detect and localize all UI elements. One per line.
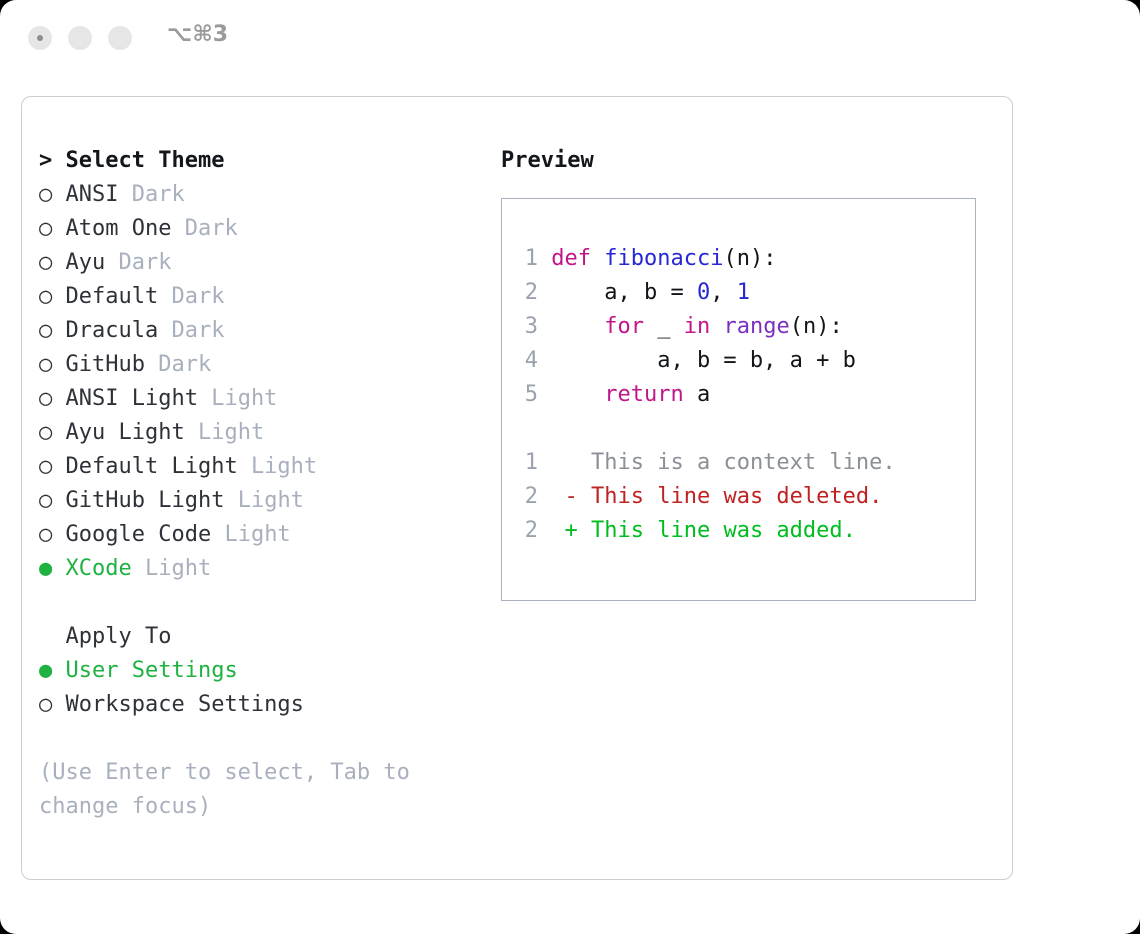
radio-unselected-icon: ○: [39, 488, 52, 513]
code-token: for: [604, 314, 644, 339]
diff-sign: [565, 450, 578, 475]
code-token: [710, 314, 723, 339]
radio-unselected-icon: ○: [39, 250, 52, 275]
line-number: 3: [516, 310, 538, 344]
traffic-light-minimize-icon[interactable]: [68, 26, 92, 50]
apply-to-option[interactable]: ● User Settings: [39, 654, 479, 688]
line-number: 2: [516, 480, 538, 514]
theme-name: Dracula: [66, 318, 159, 343]
code-line: 2 a, b = 0, 1: [516, 276, 969, 310]
code-token: in: [684, 314, 711, 339]
radio-unselected-icon: ○: [39, 454, 52, 479]
radio-unselected-icon: ○: [39, 318, 52, 343]
diff-text: This line was added.: [591, 518, 856, 543]
code-line: 5 return a: [516, 378, 969, 412]
diff-sign: -: [565, 484, 578, 509]
code-token: 0: [697, 280, 710, 305]
app-window: ⌥⌘3 > Select Theme ○ ANSI Dark○ Atom One…: [0, 0, 1140, 934]
code-line: 3 for _ in range(n):: [516, 310, 969, 344]
radio-unselected-icon: ○: [39, 352, 52, 377]
theme-name: Default Light: [66, 454, 238, 479]
prompt-caret-icon: >: [39, 148, 52, 173]
window-titlebar: ⌥⌘3: [0, 0, 1140, 78]
diff-text: This line was deleted.: [591, 484, 882, 509]
radio-selected-icon: ●: [39, 556, 52, 581]
theme-kind-label: Light: [198, 420, 264, 445]
code-token: (n):: [723, 246, 776, 271]
line-number: 2: [516, 276, 538, 310]
radio-unselected-icon: ○: [39, 182, 52, 207]
apply-to-option-label: Workspace Settings: [66, 692, 304, 717]
theme-kind-label: Dark: [119, 250, 172, 275]
apply-to-option[interactable]: ○ Workspace Settings: [39, 688, 479, 722]
code-token: a: [684, 382, 711, 407]
theme-kind-label: Dark: [171, 318, 224, 343]
diff-sign: +: [565, 518, 578, 543]
theme-list-item[interactable]: ○ Ayu Dark: [39, 246, 479, 280]
radio-unselected-icon: ○: [39, 386, 52, 411]
theme-list-item[interactable]: ○ ANSI Dark: [39, 178, 479, 212]
diff-text: This is a context line.: [591, 450, 896, 475]
apply-to-option-label: User Settings: [66, 658, 238, 683]
diff-sample: 1 This is a context line.2 - This line w…: [516, 446, 969, 548]
theme-list-item[interactable]: ○ ANSI Light Light: [39, 382, 479, 416]
theme-list-item[interactable]: ○ GitHub Light Light: [39, 484, 479, 518]
code-token: (n):: [790, 314, 843, 339]
code-line: 4 a, b = b, a + b: [516, 344, 969, 378]
theme-list-item[interactable]: ○ Default Dark: [39, 280, 479, 314]
theme-list-item[interactable]: ○ Default Light Light: [39, 450, 479, 484]
preview-column: Preview 1 def fibonacci(n):2 a, b = 0, 1…: [501, 144, 991, 601]
code-token: ,: [710, 280, 737, 305]
radio-selected-icon: ●: [39, 658, 52, 683]
radio-unselected-icon: ○: [39, 216, 52, 241]
line-number: 4: [516, 344, 538, 378]
code-token: 1: [737, 280, 750, 305]
code-sample: 1 def fibonacci(n):2 a, b = 0, 13 for _ …: [516, 242, 969, 412]
code-token: a, b = b, a + b: [551, 348, 856, 373]
apply-to-heading-label: Apply To: [66, 624, 172, 649]
theme-kind-label: Dark: [132, 182, 185, 207]
theme-name: Default: [66, 284, 159, 309]
theme-list-item[interactable]: ○ Google Code Light: [39, 518, 479, 552]
keyboard-hint-text: (Use Enter to select, Tab to change focu…: [39, 756, 449, 824]
radio-unselected-icon: ○: [39, 692, 52, 717]
theme-list-item[interactable]: ● XCode Light: [39, 552, 479, 586]
theme-kind-label: Light: [224, 522, 290, 547]
main-panel: > Select Theme ○ ANSI Dark○ Atom One Dar…: [21, 96, 1013, 880]
radio-unselected-icon: ○: [39, 522, 52, 547]
theme-name: GitHub: [66, 352, 145, 377]
theme-list-item[interactable]: ○ GitHub Dark: [39, 348, 479, 382]
diff-line: 2 - This line was deleted.: [516, 480, 969, 514]
line-number: 5: [516, 378, 538, 412]
theme-kind-label: Dark: [171, 284, 224, 309]
theme-name: Atom One: [66, 216, 172, 241]
theme-name: ANSI: [66, 182, 119, 207]
line-number: 1: [516, 446, 538, 480]
theme-name: Ayu: [66, 250, 106, 275]
code-token: [551, 382, 604, 407]
theme-list-item[interactable]: ○ Ayu Light Light: [39, 416, 479, 450]
code-token: [551, 314, 604, 339]
theme-list-item[interactable]: ○ Dracula Dark: [39, 314, 479, 348]
line-number: 2: [516, 514, 538, 548]
theme-kind-label: Light: [251, 454, 317, 479]
apply-to-list: ● User Settings○ Workspace Settings: [39, 654, 479, 722]
theme-name: ANSI Light: [66, 386, 198, 411]
code-line: 1 def fibonacci(n):: [516, 242, 969, 276]
theme-list: ○ ANSI Dark○ Atom One Dark○ Ayu Dark○ De…: [39, 178, 479, 586]
keyboard-shortcut-label: ⌥⌘3: [167, 22, 228, 47]
code-token: a, b =: [551, 280, 697, 305]
theme-kind-label: Dark: [158, 352, 211, 377]
select-theme-heading: > Select Theme: [39, 144, 479, 178]
select-theme-heading-label: Select Theme: [66, 148, 225, 173]
preview-box: 1 def fibonacci(n):2 a, b = 0, 13 for _ …: [501, 198, 976, 601]
theme-list-item[interactable]: ○ Atom One Dark: [39, 212, 479, 246]
preview-title: Preview: [501, 144, 991, 178]
apply-to-heading: Apply To: [39, 620, 479, 654]
code-token: def: [551, 246, 604, 271]
code-diff-separator: [516, 412, 969, 446]
theme-name: Google Code: [66, 522, 212, 547]
preview-code-area: 1 def fibonacci(n):2 a, b = 0, 13 for _ …: [516, 242, 969, 548]
theme-kind-label: Dark: [185, 216, 238, 241]
theme-kind-label: Light: [145, 556, 211, 581]
theme-name: Ayu Light: [66, 420, 185, 445]
radio-unselected-icon: ○: [39, 420, 52, 445]
line-number: 1: [516, 242, 538, 276]
code-token: _: [644, 314, 684, 339]
radio-unselected-icon: ○: [39, 284, 52, 309]
diff-line: 1 This is a context line.: [516, 446, 969, 480]
traffic-light-maximize-icon[interactable]: [108, 26, 132, 50]
code-token: fibonacci: [604, 246, 723, 271]
theme-kind-label: Light: [211, 386, 277, 411]
code-token: return: [604, 382, 683, 407]
theme-name: GitHub Light: [66, 488, 225, 513]
code-token: range: [723, 314, 789, 339]
theme-name: XCode: [66, 556, 132, 581]
diff-line: 2 + This line was added.: [516, 514, 969, 548]
traffic-light-active-dot-icon: [37, 35, 43, 41]
theme-kind-label: Light: [238, 488, 304, 513]
theme-selector-column: > Select Theme ○ ANSI Dark○ Atom One Dar…: [39, 144, 479, 824]
